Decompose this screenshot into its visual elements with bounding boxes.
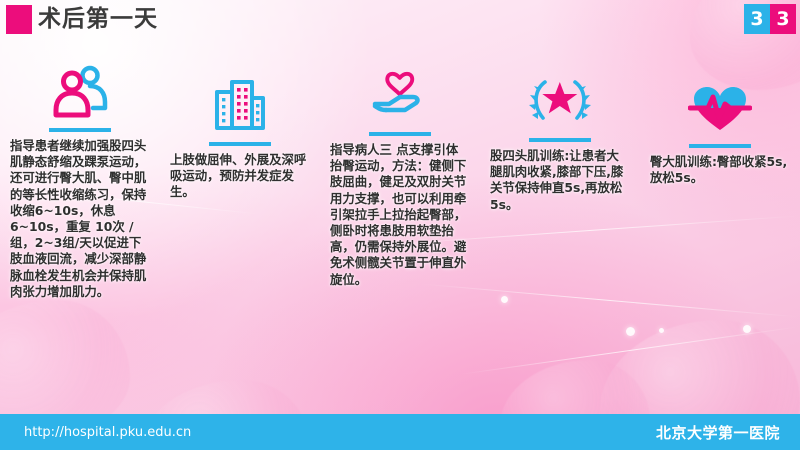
column-divider [369, 132, 431, 136]
content-columns: 指导患者继续加强股四头肌静态舒缩及踝泵运动，还可进行臀大肌、臀中肌的等长性收缩练… [0, 56, 800, 406]
page-number-tile-2: 3 [770, 4, 796, 34]
buildings-icon [160, 70, 320, 132]
column-divider [529, 138, 591, 142]
page-title: 术后第一天 [38, 4, 158, 34]
column-3-text: 指导病人三 点支撑引体抬臀运动，方法：健侧下肢屈曲，健足及双肘关节用力支撑，也可… [330, 142, 470, 288]
laurel-star-icon [480, 66, 640, 128]
content-column-5: 臀大肌训练:臀部收紧5s,放松5s。 [640, 56, 800, 406]
column-5-text: 臀大肌训练:臀部收紧5s,放松5s。 [650, 154, 790, 186]
slide-footer: http://hospital.pku.edu.cn 北京大学第一医院 [0, 414, 800, 450]
content-column-2: 上肢做屈伸、外展及深呼吸运动，预防并发症发生。 [160, 56, 320, 406]
title-accent-square [6, 5, 32, 34]
column-1-text: 指导患者继续加强股四头肌静态舒缩及踝泵运动，还可进行臀大肌、臀中肌的等长性收缩练… [10, 138, 150, 300]
page-number-tile-1: 3 [744, 4, 770, 34]
two-people-icon [0, 56, 160, 118]
column-2-text: 上肢做屈伸、外展及深呼吸运动，预防并发症发生。 [170, 152, 310, 201]
footer-url[interactable]: http://hospital.pku.edu.cn [24, 425, 191, 440]
column-divider [689, 144, 751, 148]
column-4-text: 股四头肌训练:让患者大腿肌肉收紧,膝部下压,膝关节保持伸直5s,再放松5s。 [490, 148, 630, 213]
slide-canvas: 术后第一天 3 3 指导患者继续加强股四头肌静态舒缩及踝泵运动，还可进行臀大 [0, 0, 800, 450]
footer-organization: 北京大学第一医院 [656, 422, 780, 443]
slide-header: 术后第一天 3 3 [0, 0, 800, 44]
column-divider [209, 142, 271, 146]
column-divider [49, 128, 111, 132]
content-column-4: 股四头肌训练:让患者大腿肌肉收紧,膝部下压,膝关节保持伸直5s,再放松5s。 [480, 56, 640, 406]
heart-pulse-icon [640, 72, 800, 134]
page-number-badge: 3 3 [744, 4, 796, 34]
content-column-3: 指导病人三 点支撑引体抬臀运动，方法：健侧下肢屈曲，健足及双肘关节用力支撑，也可… [320, 56, 480, 406]
content-column-1: 指导患者继续加强股四头肌静态舒缩及踝泵运动，还可进行臀大肌、臀中肌的等长性收缩练… [0, 56, 160, 406]
hand-heart-icon [320, 60, 480, 122]
